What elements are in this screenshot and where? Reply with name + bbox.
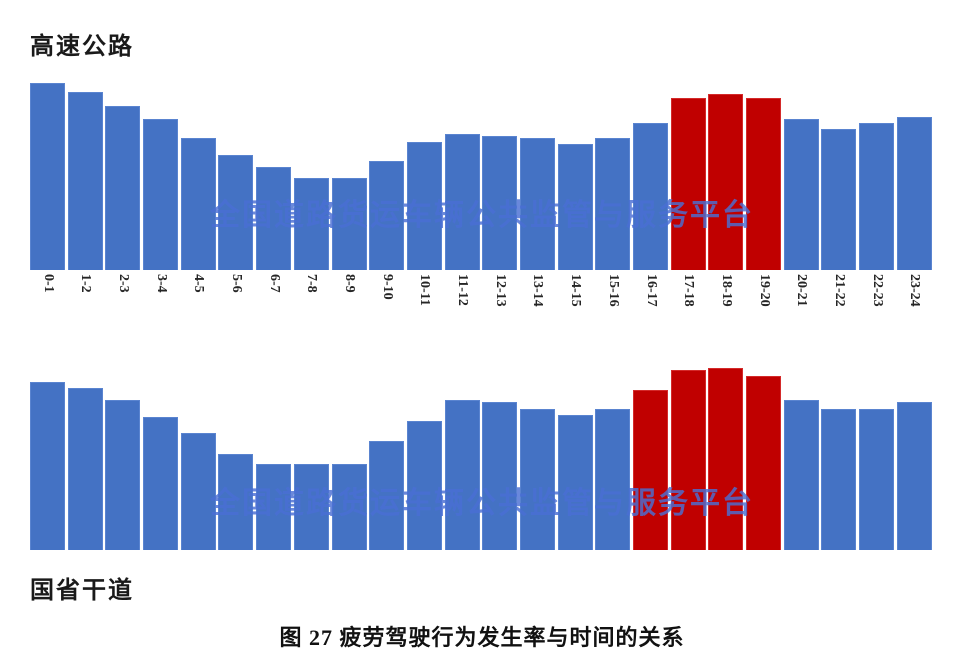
bar-15-16 xyxy=(595,138,630,270)
bar-7-8 xyxy=(294,178,329,270)
x-axis-labels: 0-11-22-33-44-55-66-77-88-99-1010-1111-1… xyxy=(30,272,932,342)
bar-9-10 xyxy=(369,161,404,270)
chart-top-expressway xyxy=(30,60,932,270)
bar-0-1 xyxy=(30,83,65,270)
x-tick-label: 8-9 xyxy=(341,274,357,293)
bar-23-24 xyxy=(897,117,932,270)
bar-8-9 xyxy=(332,464,367,550)
bar-18-19 xyxy=(708,94,743,270)
x-tick-14-15: 14-15 xyxy=(558,272,593,342)
x-tick-17-18: 17-18 xyxy=(671,272,706,342)
bar-6-7 xyxy=(256,167,291,270)
bar-12-13 xyxy=(482,402,517,550)
x-tick-label: 18-19 xyxy=(718,274,734,307)
bar-12-13 xyxy=(482,136,517,270)
x-tick-label: 3-4 xyxy=(153,274,169,293)
x-tick-2-3: 2-3 xyxy=(105,272,140,342)
bar-4-5 xyxy=(181,433,216,550)
x-tick-6-7: 6-7 xyxy=(256,272,291,342)
x-tick-label: 13-14 xyxy=(529,274,545,307)
x-tick-0-1: 0-1 xyxy=(30,272,65,342)
x-tick-13-14: 13-14 xyxy=(520,272,555,342)
x-tick-19-20: 19-20 xyxy=(746,272,781,342)
figure-container: 高速公路 全国道路货运车辆公共监管与服务平台 0-11-22-33-44-55-… xyxy=(0,0,964,665)
bar-17-18 xyxy=(671,98,706,270)
bar-8-9 xyxy=(332,178,367,270)
x-tick-8-9: 8-9 xyxy=(332,272,367,342)
bar-3-4 xyxy=(143,417,178,550)
bar-13-14 xyxy=(520,138,555,270)
bar-2-3 xyxy=(105,106,140,270)
bar-18-19 xyxy=(708,368,743,550)
x-tick-label: 11-12 xyxy=(454,274,470,306)
bar-1-2 xyxy=(68,92,103,271)
x-tick-3-4: 3-4 xyxy=(143,272,178,342)
bar-16-17 xyxy=(633,123,668,270)
x-tick-label: 14-15 xyxy=(567,274,583,307)
bar-20-21 xyxy=(784,119,819,270)
figure-caption: 图 27 疲劳驾驶行为发生率与时间的关系 xyxy=(0,620,964,652)
chart-bottom-trunk-roads xyxy=(30,345,932,550)
bar-5-6 xyxy=(218,454,253,550)
x-tick-21-22: 21-22 xyxy=(821,272,856,342)
x-tick-label: 4-5 xyxy=(190,274,206,293)
x-tick-5-6: 5-6 xyxy=(218,272,253,342)
x-tick-11-12: 11-12 xyxy=(445,272,480,342)
x-tick-label: 20-21 xyxy=(793,274,809,307)
x-tick-label: 6-7 xyxy=(266,274,282,293)
x-tick-label: 23-24 xyxy=(906,274,922,307)
x-tick-label: 16-17 xyxy=(643,274,659,307)
x-tick-label: 19-20 xyxy=(756,274,772,307)
x-tick-label: 10-11 xyxy=(416,274,432,306)
bar-23-24 xyxy=(897,402,932,550)
bar-22-23 xyxy=(859,123,894,270)
x-tick-23-24: 23-24 xyxy=(897,272,932,342)
x-tick-4-5: 4-5 xyxy=(181,272,216,342)
x-tick-16-17: 16-17 xyxy=(633,272,668,342)
bar-3-4 xyxy=(143,119,178,270)
bar-0-1 xyxy=(30,382,65,550)
x-tick-10-11: 10-11 xyxy=(407,272,442,342)
bar-4-5 xyxy=(181,138,216,270)
bar-11-12 xyxy=(445,134,480,271)
x-tick-22-23: 22-23 xyxy=(859,272,894,342)
bar-14-15 xyxy=(558,144,593,270)
bar-1-2 xyxy=(68,388,103,550)
x-tick-label: 12-13 xyxy=(492,274,508,307)
x-tick-label: 1-2 xyxy=(77,274,93,293)
bar-13-14 xyxy=(520,409,555,550)
bar-19-20 xyxy=(746,98,781,270)
bar-14-15 xyxy=(558,415,593,550)
bar-6-7 xyxy=(256,464,291,550)
bar-group-top xyxy=(30,60,932,270)
x-tick-label: 7-8 xyxy=(303,274,319,293)
bar-7-8 xyxy=(294,464,329,550)
bar-20-21 xyxy=(784,400,819,550)
bar-22-23 xyxy=(859,409,894,550)
bar-11-12 xyxy=(445,400,480,550)
bar-16-17 xyxy=(633,390,668,550)
x-tick-label: 9-10 xyxy=(379,274,395,300)
bar-15-16 xyxy=(595,409,630,550)
x-tick-label: 2-3 xyxy=(115,274,131,293)
panel-title-trunk-roads: 国省干道 xyxy=(30,570,134,605)
bar-10-11 xyxy=(407,421,442,550)
x-tick-label: 21-22 xyxy=(831,274,847,307)
bar-5-6 xyxy=(218,155,253,271)
x-tick-1-2: 1-2 xyxy=(68,272,103,342)
x-tick-12-13: 12-13 xyxy=(482,272,517,342)
x-tick-label: 0-1 xyxy=(40,274,56,293)
x-tick-label: 5-6 xyxy=(228,274,244,293)
bar-21-22 xyxy=(821,409,856,550)
x-tick-20-21: 20-21 xyxy=(784,272,819,342)
bar-2-3 xyxy=(105,400,140,550)
x-tick-label: 15-16 xyxy=(605,274,621,307)
x-tick-7-8: 7-8 xyxy=(294,272,329,342)
x-tick-9-10: 9-10 xyxy=(369,272,404,342)
x-tick-15-16: 15-16 xyxy=(595,272,630,342)
bar-10-11 xyxy=(407,142,442,270)
x-tick-18-19: 18-19 xyxy=(708,272,743,342)
bar-21-22 xyxy=(821,129,856,270)
x-tick-label: 17-18 xyxy=(680,274,696,307)
x-tick-label: 22-23 xyxy=(869,274,885,307)
bar-19-20 xyxy=(746,376,781,550)
bar-9-10 xyxy=(369,441,404,550)
bar-17-18 xyxy=(671,370,706,550)
panel-title-expressway: 高速公路 xyxy=(30,26,134,61)
bar-group-bottom xyxy=(30,345,932,550)
